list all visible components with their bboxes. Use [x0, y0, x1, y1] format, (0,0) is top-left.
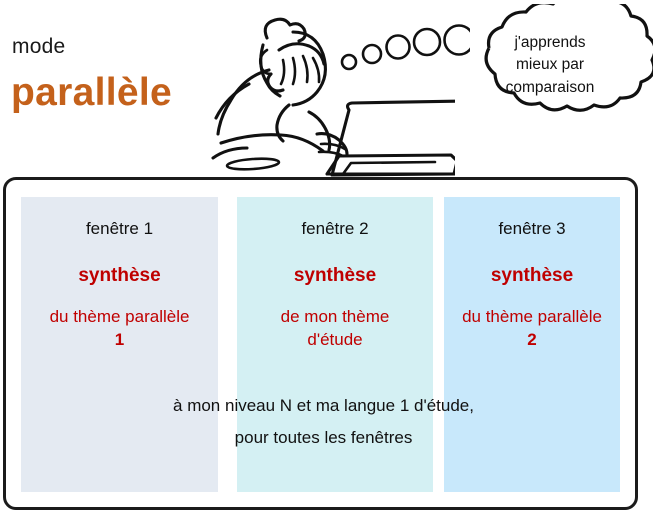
window-label-1: fenêtre 1 — [21, 219, 218, 239]
shared-note: à mon niveau N et ma langue 1 d'étude, p… — [6, 390, 641, 455]
bubble-line-1: j'apprends — [470, 32, 630, 54]
theme-line1-3: du thème parallèle — [462, 307, 602, 326]
theme-line1-1: du thème parallèle — [50, 307, 190, 326]
theme-text-2: de mon thème d'étude — [237, 306, 433, 351]
panel-2-content: fenêtre 2 synthèse de mon thème d'étude — [237, 197, 433, 351]
synthese-label-1: synthèse — [21, 265, 218, 288]
header-block: mode parallèle — [0, 0, 657, 177]
bubble-line-2: mieux par — [470, 54, 630, 76]
parallel-mode-box: fenêtre 1 synthèse du thème parallèle 1 … — [3, 177, 638, 510]
mode-label: mode — [12, 36, 65, 57]
shared-note-line-2: pour toutes les fenêtres — [6, 422, 641, 454]
theme-line1-2: de mon thème — [281, 307, 390, 326]
theme-line2-1: 1 — [115, 330, 124, 349]
window-panels: fenêtre 1 synthèse du thème parallèle 1 … — [6, 180, 635, 507]
theme-text-3: du thème parallèle 2 — [444, 306, 620, 351]
thought-bubble-text: j'apprends mieux par comparaison — [470, 32, 630, 99]
window-label-2: fenêtre 2 — [237, 219, 433, 239]
shared-note-line-1: à mon niveau N et ma langue 1 d'étude, — [6, 390, 641, 422]
theme-line2-2: d'étude — [307, 330, 362, 349]
synthese-label-3: synthèse — [444, 265, 620, 288]
panel-1-content: fenêtre 1 synthèse du thème parallèle 1 — [21, 197, 218, 351]
panel-3-content: fenêtre 3 synthèse du thème parallèle 2 — [444, 197, 620, 351]
synthese-label-2: synthèse — [237, 265, 433, 288]
theme-text-1: du thème parallèle 1 — [21, 306, 218, 351]
page-title: parallèle — [11, 73, 172, 112]
bubble-line-3: comparaison — [470, 77, 630, 99]
theme-line2-3: 2 — [527, 330, 536, 349]
window-label-3: fenêtre 3 — [444, 219, 620, 239]
